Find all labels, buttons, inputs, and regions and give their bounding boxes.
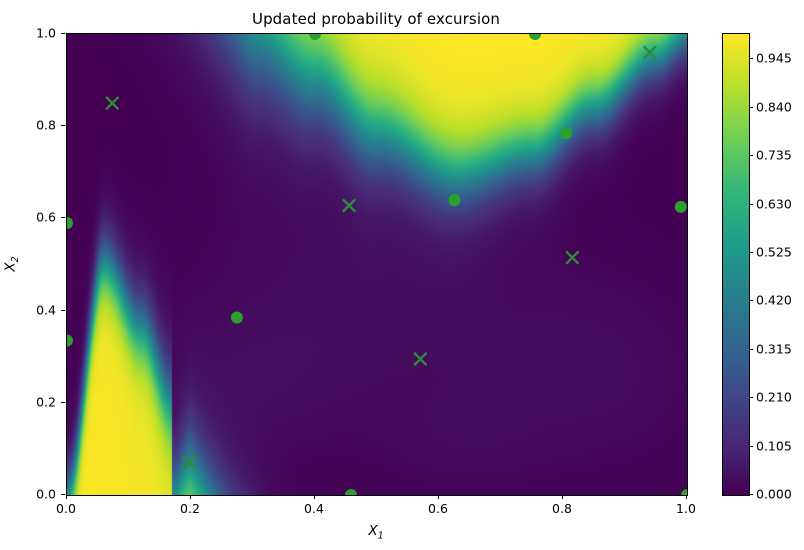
x-tick-mark (438, 495, 439, 499)
colorbar-tick-mark (749, 300, 753, 301)
x-tick-mark (190, 495, 191, 499)
observation-point-marker (560, 127, 572, 139)
candidate-point-marker (415, 354, 426, 365)
observation-point-marker (529, 33, 541, 40)
y-tick-label: 0.6 (56, 210, 76, 225)
y-tick-label: 0.0 (56, 487, 76, 502)
y-tick-label: 0.8 (56, 118, 76, 133)
x-axis-label: X1 (66, 523, 686, 542)
observation-point-marker (309, 33, 321, 40)
colorbar-tick-label: 0.840 (756, 99, 792, 114)
colorbar-tick-mark (749, 349, 753, 350)
x-tick-label: 0.2 (180, 501, 200, 516)
colorbar-tick-label: 0.000 (756, 487, 792, 502)
colorbar-tick-mark (749, 252, 753, 253)
colorbar-tick-label: 0.315 (756, 341, 792, 356)
colorbar-tick-label: 0.525 (756, 244, 792, 259)
figure-canvas: Updated probability of excursion 0.00.20… (0, 0, 804, 550)
x-tick-mark (686, 495, 687, 499)
x-tick-label: 0.0 (56, 501, 76, 516)
observation-point-marker (66, 335, 73, 347)
colorbar-tick-mark (749, 155, 753, 156)
colorbar-tick-label: 0.210 (756, 390, 792, 405)
colorbar-tick-label: 0.630 (756, 196, 792, 211)
x-tick-mark (562, 495, 563, 499)
x-tick-label: 0.6 (428, 501, 448, 516)
plot-area[interactable] (66, 33, 688, 496)
y-tick-label: 0.2 (56, 394, 76, 409)
observation-point-marker (231, 312, 243, 324)
colorbar-tick-mark (749, 107, 753, 108)
chart-title: Updated probability of excursion (66, 10, 686, 28)
x-tick-label: 0.8 (552, 501, 572, 516)
candidate-point-marker (107, 98, 118, 109)
colorbar-tick-mark (749, 204, 753, 205)
candidate-point-marker (344, 200, 355, 211)
candidate-point-marker (567, 252, 578, 263)
candidate-point-marker (184, 457, 195, 468)
x-tick-mark (314, 495, 315, 499)
candidate-point-marker (644, 47, 655, 58)
y-axis-label: X2 (2, 256, 21, 271)
colorbar-tick-label: 0.420 (756, 293, 792, 308)
observation-point-marker (345, 489, 357, 496)
colorbar-tick-mark (749, 446, 753, 447)
colorbar-tick-mark (749, 58, 753, 59)
colorbar-tick-mark (749, 397, 753, 398)
x-tick-label: 0.4 (304, 501, 324, 516)
colorbar-tick-label: 0.945 (756, 51, 792, 66)
colorbar-tick-label: 0.105 (756, 438, 792, 453)
x-tick-label: 1.0 (676, 501, 696, 516)
y-tick-label: 0.4 (56, 302, 76, 317)
colorbar (722, 33, 750, 496)
colorbar-gradient (723, 34, 749, 495)
y-tick-label: 1.0 (56, 26, 76, 41)
observation-point-marker (449, 194, 461, 206)
colorbar-tick-label: 0.735 (756, 148, 792, 163)
observation-point-marker (675, 201, 687, 213)
marker-layer (67, 34, 687, 495)
colorbar-tick-mark (749, 494, 753, 495)
